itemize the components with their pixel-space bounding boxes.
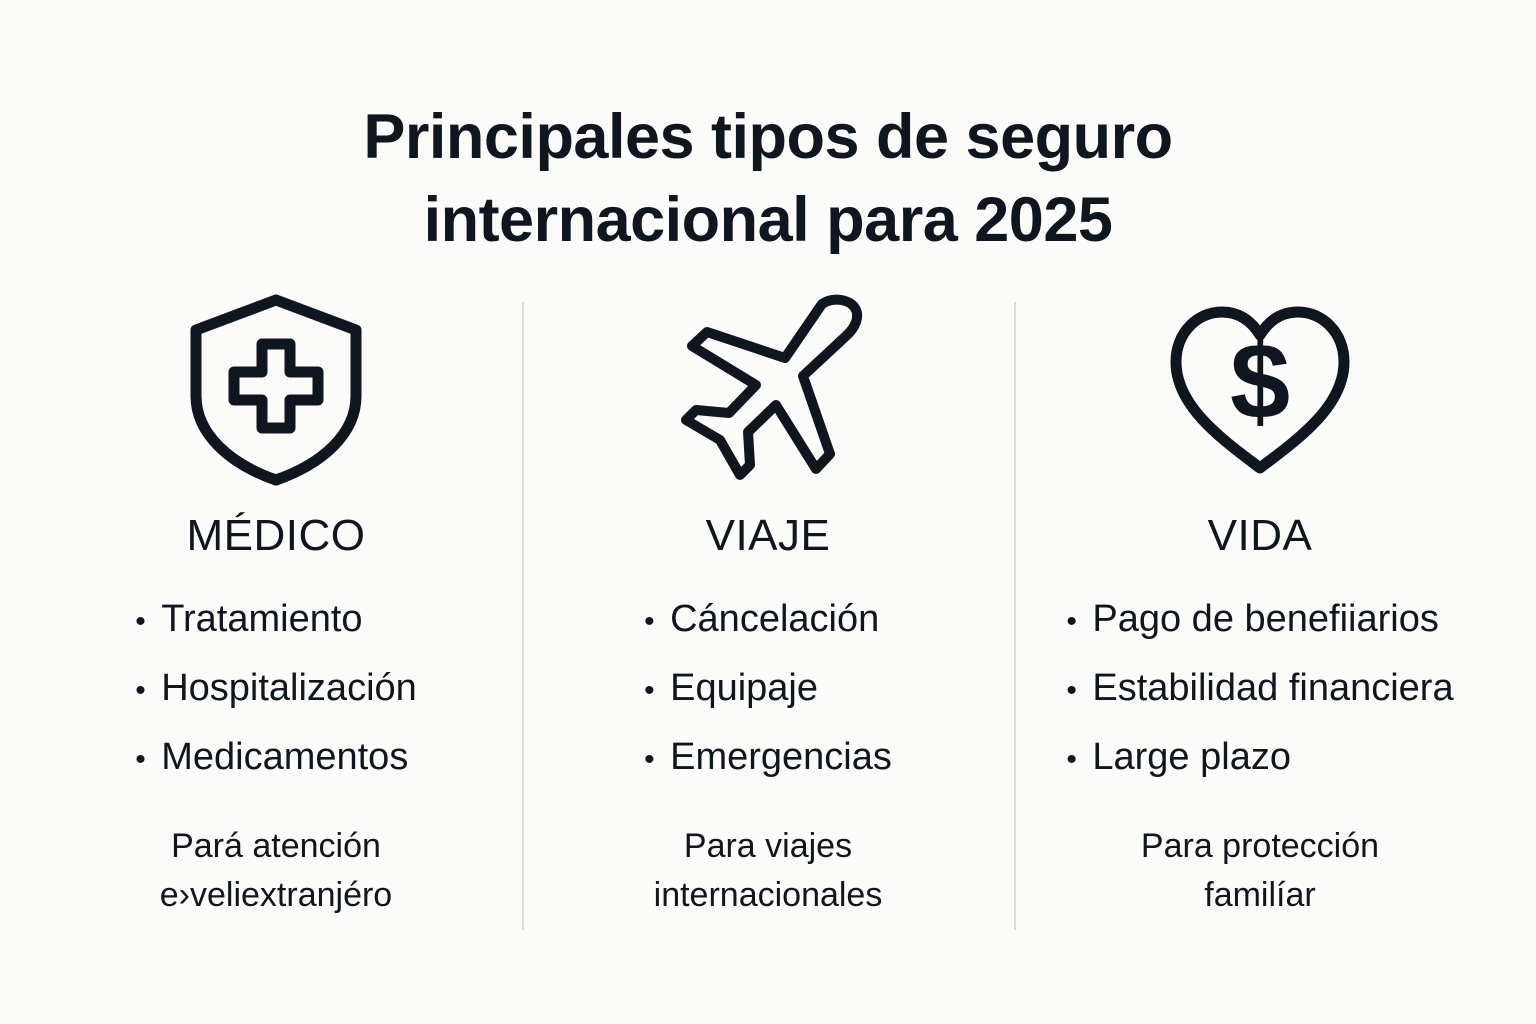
heart-dollar-icon: $ bbox=[1162, 290, 1358, 490]
column-heading-vida: VIDA bbox=[1208, 514, 1313, 558]
column-caption-line-1: Pará atención bbox=[160, 822, 392, 870]
list-item: • Tratamiento bbox=[135, 600, 417, 638]
page-title-line-1: Principales tipos de seguro bbox=[178, 96, 1358, 179]
column-heading-medico: MÉDICO bbox=[187, 514, 366, 558]
bullet-icon: • bbox=[644, 607, 670, 637]
list-item: • Estabilidad financiera bbox=[1066, 669, 1453, 707]
bullet-icon: • bbox=[1066, 745, 1092, 775]
list-item-label: Pago de benefiiarios bbox=[1092, 600, 1438, 638]
shield-medical-cross-icon bbox=[188, 290, 364, 490]
bullet-icon: • bbox=[135, 745, 161, 775]
column-caption-line-1: Para protección bbox=[1141, 822, 1379, 870]
column-caption-line-2: e›veliextranjéro bbox=[160, 871, 392, 919]
list-item: • Pago de benefiiarios bbox=[1066, 600, 1453, 638]
page-title: Principales tipos de seguro internaciona… bbox=[178, 96, 1358, 262]
list-item: • Hospitalización bbox=[135, 669, 417, 707]
bullet-icon: • bbox=[644, 745, 670, 775]
feature-list-vida: • Pago de benefiiarios • Estabilidad fin… bbox=[1066, 600, 1453, 776]
feature-list-viaje: • Cáncelación • Equipaje • Emergencias bbox=[644, 600, 892, 776]
bullet-icon: • bbox=[1066, 607, 1092, 637]
column-heading-viaje: VIAJE bbox=[706, 514, 831, 558]
insurance-type-columns: MÉDICO • Tratamiento • Hospitalización •… bbox=[30, 290, 1506, 919]
bullet-icon: • bbox=[135, 607, 161, 637]
column-caption-line-2: familíar bbox=[1141, 871, 1379, 919]
list-item: • Cáncelación bbox=[644, 600, 892, 638]
insurance-column-medico: MÉDICO • Tratamiento • Hospitalización •… bbox=[30, 290, 522, 919]
bullet-icon: • bbox=[135, 676, 161, 706]
list-item-label: Hospitalización bbox=[161, 669, 417, 707]
bullet-icon: • bbox=[644, 676, 670, 706]
insurance-column-viaje: VIAJE • Cáncelación • Equipaje • Emergen… bbox=[522, 290, 1014, 919]
page-title-line-2: internacional para 2025 bbox=[178, 179, 1358, 262]
insurance-column-vida: $ VIDA • Pago de benefiiarios • Estabili… bbox=[1014, 290, 1506, 919]
column-caption-medico: Pará atención e›veliextranjéro bbox=[160, 822, 392, 919]
list-item-label: Tratamiento bbox=[161, 600, 362, 638]
list-item-label: Estabilidad financiera bbox=[1092, 669, 1453, 707]
list-item: • Equipaje bbox=[644, 669, 892, 707]
bullet-icon: • bbox=[1066, 676, 1092, 706]
list-item-label: Large plazo bbox=[1092, 738, 1291, 776]
column-caption-viaje: Para viajes internacionales bbox=[654, 822, 883, 919]
list-item: • Medicamentos bbox=[135, 738, 417, 776]
list-item: • Large plazo bbox=[1066, 738, 1453, 776]
svg-text:$: $ bbox=[1230, 320, 1290, 441]
list-item-label: Equipaje bbox=[670, 669, 818, 707]
list-item-label: Emergencias bbox=[670, 738, 892, 776]
column-caption-vida: Para protección familíar bbox=[1141, 822, 1379, 919]
feature-list-medico: • Tratamiento • Hospitalización • Medica… bbox=[135, 600, 417, 776]
list-item-label: Medicamentos bbox=[161, 738, 408, 776]
column-caption-line-1: Para viajes bbox=[654, 822, 883, 870]
infographic-root: Principales tipos de seguro internaciona… bbox=[0, 0, 1536, 1024]
column-caption-line-2: internacionales bbox=[654, 871, 883, 919]
list-item: • Emergencias bbox=[644, 738, 892, 776]
airplane-icon bbox=[670, 290, 866, 490]
list-item-label: Cáncelación bbox=[670, 600, 879, 638]
